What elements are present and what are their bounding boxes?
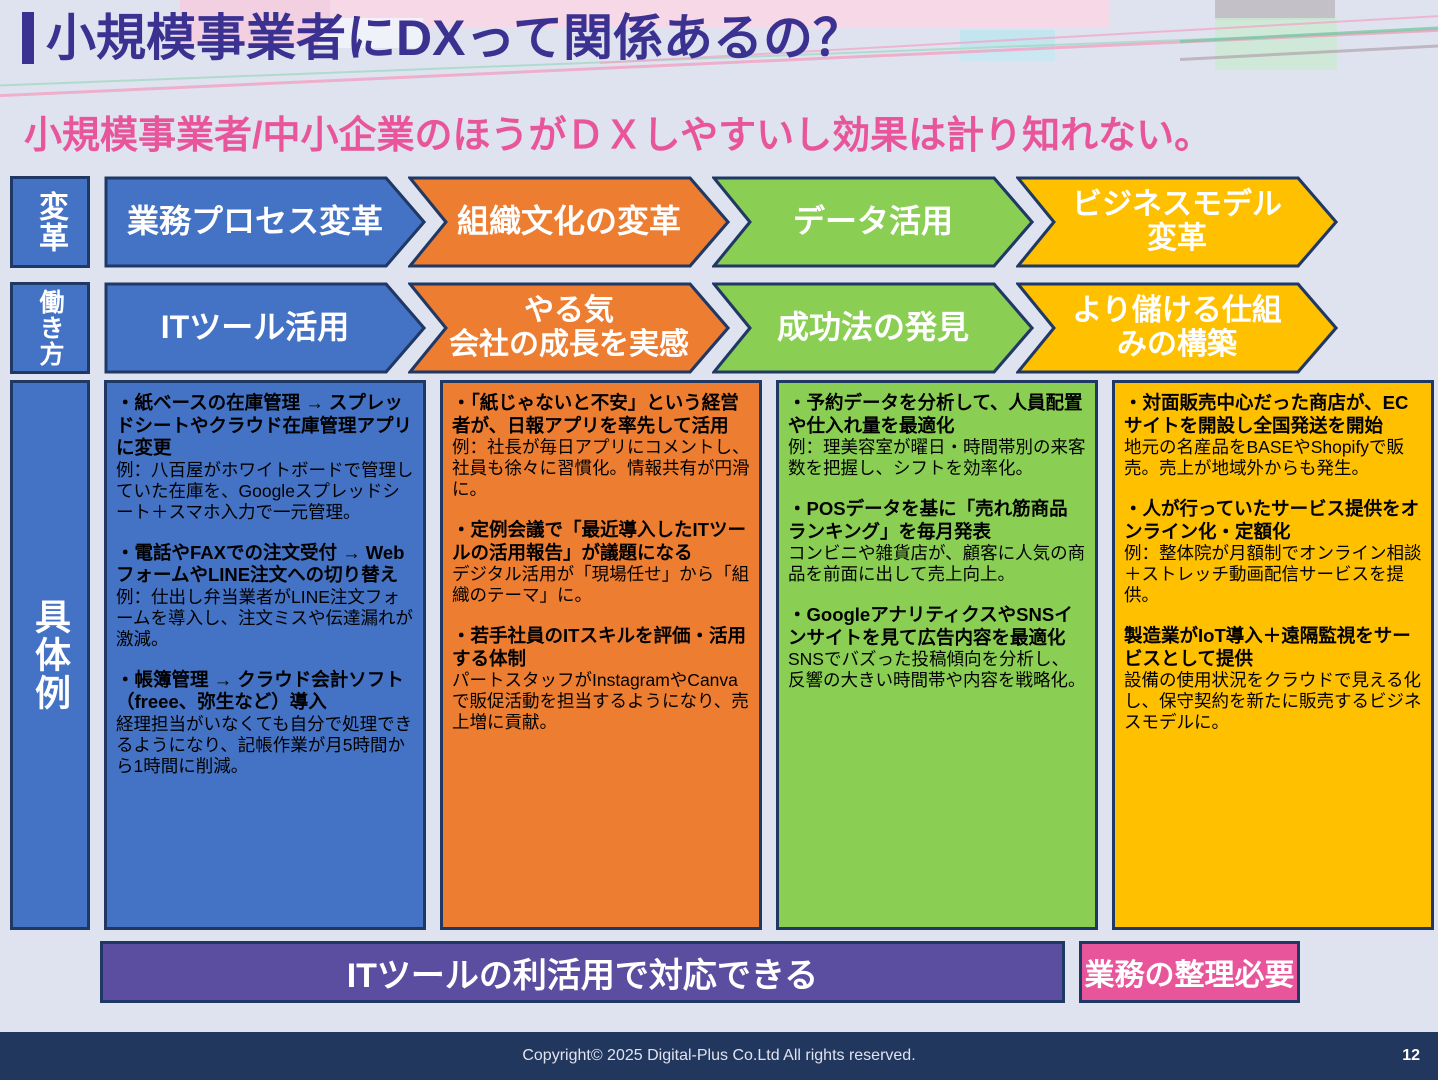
decor-gray-line [1180, 42, 1438, 61]
detail-block: ・予約データを分析して、人員配置や仕入れ量を最適化例：理美容室が曜日・時間帯別の… [788, 392, 1086, 479]
block-spacer [452, 504, 750, 519]
decor-cyan-block [960, 30, 1055, 47]
process-row-hatarakikata: 働き方 ITツール活用やる気会社の成長を実感成功法の発見より儲ける仕組みの構築 [10, 282, 1338, 374]
detail-block: ・定例会議で「最近導入したITツールの活用報告」が議題になるデジタル活用が「現場… [452, 519, 750, 606]
detail-block-heading: 製造業がIoT導入＋遠隔監視をサービスとして提供 [1124, 625, 1422, 670]
detail-block: ・若手社員のITスキルを評価・活用する体制パートスタッフがInstagramやC… [452, 625, 750, 733]
footer-copyright: Copyright© 2025 Digital-Plus Co.Ltd All … [0, 1032, 1438, 1080]
detail-column-4: ・対面販売中心だった商店が、ECサイトを開設し全国発送を開始地元の名産品をBAS… [1112, 380, 1434, 930]
page-title: 小規模事業者にDXって関係あるの？ [22, 12, 863, 64]
detail-block-body: 設備の使用状況をクラウドで見える化し、保守契約を新たに販売するビジネスモデルに。 [1124, 670, 1422, 733]
summary-bar-gyomu-seiri: 業務の整理必要 [1079, 941, 1300, 1003]
row-label-hatarakikata: 働き方 [10, 282, 90, 374]
decor-green-line-2 [1180, 24, 1438, 43]
slide-canvas: 小規模事業者にDXって関係あるの？ 小規模事業者/中小企業のほうがＤＸしやすいし… [0, 0, 1438, 1080]
block-spacer [788, 589, 1086, 604]
detail-band: 具体例 ・紙ベースの在庫管理 → スプレッドシートやクラウド在庫管理アプリに変更… [10, 380, 1434, 930]
detail-block-body: 例：八百屋がホワイトボードで管理していた在庫を、Googleスプレッドシート＋ス… [116, 460, 414, 523]
chevron-group-henkaku: 業務プロセス変革組織文化の変革データ活用ビジネスモデル変革 [104, 176, 1338, 268]
chevron-step-label: 組織文化の変革 [447, 204, 691, 240]
detail-block-body: パートスタッフがInstagramやCanvaで販促活動を担当するようになり、売… [452, 670, 750, 733]
detail-block: ・電話やFAXでの注文受付 → WebフォームやLINE注文への切り替え例：仕出… [116, 542, 414, 650]
detail-block-heading: ・予約データを分析して、人員配置や仕入れ量を最適化 [788, 392, 1086, 437]
row-label-henkaku: 変革 [10, 176, 90, 268]
detail-block-body: SNSでバズった投稿傾向を分析し、反響の大きい時間帯や内容を戦略化。 [788, 649, 1086, 691]
detail-block-body: 例：整体院が月額制でオンライン相談＋ストレッチ動画配信サービスを提供。 [1124, 543, 1422, 606]
detail-block: ・人が行っていたサービス提供をオンライン化・定額化例：整体院が月額制でオンライン… [1124, 498, 1422, 606]
chevron-step-label: データ活用 [783, 204, 963, 240]
detail-block-body: 地元の名産品をBASEやShopifyで販売。売上が地域外からも発生。 [1124, 437, 1422, 479]
chevron-step-label: ITツール活用 [151, 310, 359, 346]
detail-column-1: ・紙ベースの在庫管理 → スプレッドシートやクラウド在庫管理アプリに変更例：八百… [104, 380, 426, 930]
detail-block-heading: ・定例会議で「最近導入したITツールの活用報告」が議題になる [452, 519, 750, 564]
detail-block-heading: ・GoogleアナリティクスやSNSインサイトを見て広告内容を最適化 [788, 604, 1086, 649]
detail-label-gutaireI: 具体例 [10, 380, 90, 930]
detail-block-heading: ・若手社員のITスキルを評価・活用する体制 [452, 625, 750, 670]
chevron-step-label: やる気会社の成長を実感 [439, 294, 699, 361]
detail-block-body: 例：仕出し弁当業者がLINE注文フォームを導入し、注文ミスや伝達漏れが激減。 [116, 587, 414, 650]
detail-block: ・対面販売中心だった商店が、ECサイトを開設し全国発送を開始地元の名産品をBAS… [1124, 392, 1422, 479]
block-spacer [116, 654, 414, 669]
chevron-step-1-4: ビジネスモデル変革 [1016, 176, 1338, 268]
detail-block-body: 経理担当がいなくても自分で処理できるようになり、記帳作業が月5時間から1時間に削… [116, 714, 414, 777]
detail-column-2: ・「紙じゃないと不安」という経営者が、日報アプリを率先して活用例：社長が毎日アプ… [440, 380, 762, 930]
process-row-henkaku: 変革 業務プロセス変革組織文化の変革データ活用ビジネスモデル変革 [10, 176, 1338, 268]
detail-block-heading: ・紙ベースの在庫管理 → スプレッドシートやクラウド在庫管理アプリに変更 [116, 392, 414, 460]
detail-block: ・POSデータを基に「売れ筋商品ランキング」を毎月発表コンビニや雑貨店が、顧客に… [788, 498, 1086, 585]
detail-block-heading: ・帳簿管理 → クラウド会計ソフト（freee、弥生など）導入 [116, 669, 414, 714]
footer-bar: Copyright© 2025 Digital-Plus Co.Ltd All … [0, 1032, 1438, 1080]
block-spacer [452, 610, 750, 625]
detail-block-heading: ・電話やFAXでの注文受付 → WebフォームやLINE注文への切り替え [116, 542, 414, 587]
page-number: 12 [1402, 1032, 1420, 1080]
detail-block: ・「紙じゃないと不安」という経営者が、日報アプリを率先して活用例：社長が毎日アプ… [452, 392, 750, 500]
title-text: 小規模事業者にDXって関係あるの？ [46, 13, 863, 63]
decor-green-block [1215, 18, 1337, 70]
chevron-step-label: より儲ける仕組みの構築 [1062, 294, 1291, 361]
detail-block-heading: ・「紙じゃないと不安」という経営者が、日報アプリを率先して活用 [452, 392, 750, 437]
detail-block-heading: ・対面販売中心だった商店が、ECサイトを開設し全国発送を開始 [1124, 392, 1422, 437]
chevron-step-2-2: やる気会社の成長を実感 [408, 282, 730, 374]
chevron-step-2-1: ITツール活用 [104, 282, 426, 374]
chevron-step-label: 業務プロセス変革 [117, 204, 393, 240]
chevron-step-2-4: より儲ける仕組みの構築 [1016, 282, 1338, 374]
decor-gray-block [1215, 0, 1335, 20]
detail-column-3: ・予約データを分析して、人員配置や仕入れ量を最適化例：理美容室が曜日・時間帯別の… [776, 380, 1098, 930]
chevron-step-2-3: 成功法の発見 [712, 282, 1034, 374]
chevron-step-label: 成功法の発見 [767, 310, 979, 346]
detail-block-body: 例：理美容室が曜日・時間帯別の来客数を把握し、シフトを効率化。 [788, 437, 1086, 479]
decor-cyan-block-2 [960, 49, 1055, 61]
detail-block-body: 例：社長が毎日アプリにコメントし、社員も徐々に習慣化。情報共有が円滑に。 [452, 437, 750, 500]
title-accent-bar [22, 12, 34, 64]
chevron-step-1-2: 組織文化の変革 [408, 176, 730, 268]
chevron-step-1-1: 業務プロセス変革 [104, 176, 426, 268]
subtitle-text: 小規模事業者/中小企業のほうがＤＸしやすいし効果は計り知れない。 [24, 104, 1212, 159]
chevron-group-hatarakikata: ITツール活用やる気会社の成長を実感成功法の発見より儲ける仕組みの構築 [104, 282, 1338, 374]
detail-block: ・紙ベースの在庫管理 → スプレッドシートやクラウド在庫管理アプリに変更例：八百… [116, 392, 414, 523]
block-spacer [1124, 610, 1422, 625]
detail-block-body: コンビニや雑貨店が、顧客に人気の商品を前面に出して売上向上。 [788, 543, 1086, 585]
detail-block-body: デジタル活用が「現場任せ」から「組織のテーマ」に。 [452, 564, 750, 606]
detail-block-heading: ・POSデータを基に「売れ筋商品ランキング」を毎月発表 [788, 498, 1086, 543]
detail-block-heading: ・人が行っていたサービス提供をオンライン化・定額化 [1124, 498, 1422, 543]
summary-bars: ITツールの利活用で対応できる 業務の整理必要 [100, 941, 1300, 1003]
block-spacer [116, 527, 414, 542]
chevron-step-1-3: データ活用 [712, 176, 1034, 268]
detail-block: ・GoogleアナリティクスやSNSインサイトを見て広告内容を最適化SNSでバズ… [788, 604, 1086, 691]
detail-block: 製造業がIoT導入＋遠隔監視をサービスとして提供設備の使用状況をクラウドで見える… [1124, 625, 1422, 733]
block-spacer [788, 483, 1086, 498]
summary-bar-it-tools: ITツールの利活用で対応できる [100, 941, 1065, 1003]
detail-block: ・帳簿管理 → クラウド会計ソフト（freee、弥生など）導入経理担当がいなくて… [116, 669, 414, 777]
block-spacer [1124, 483, 1422, 498]
chevron-step-label: ビジネスモデル変革 [1062, 188, 1292, 255]
